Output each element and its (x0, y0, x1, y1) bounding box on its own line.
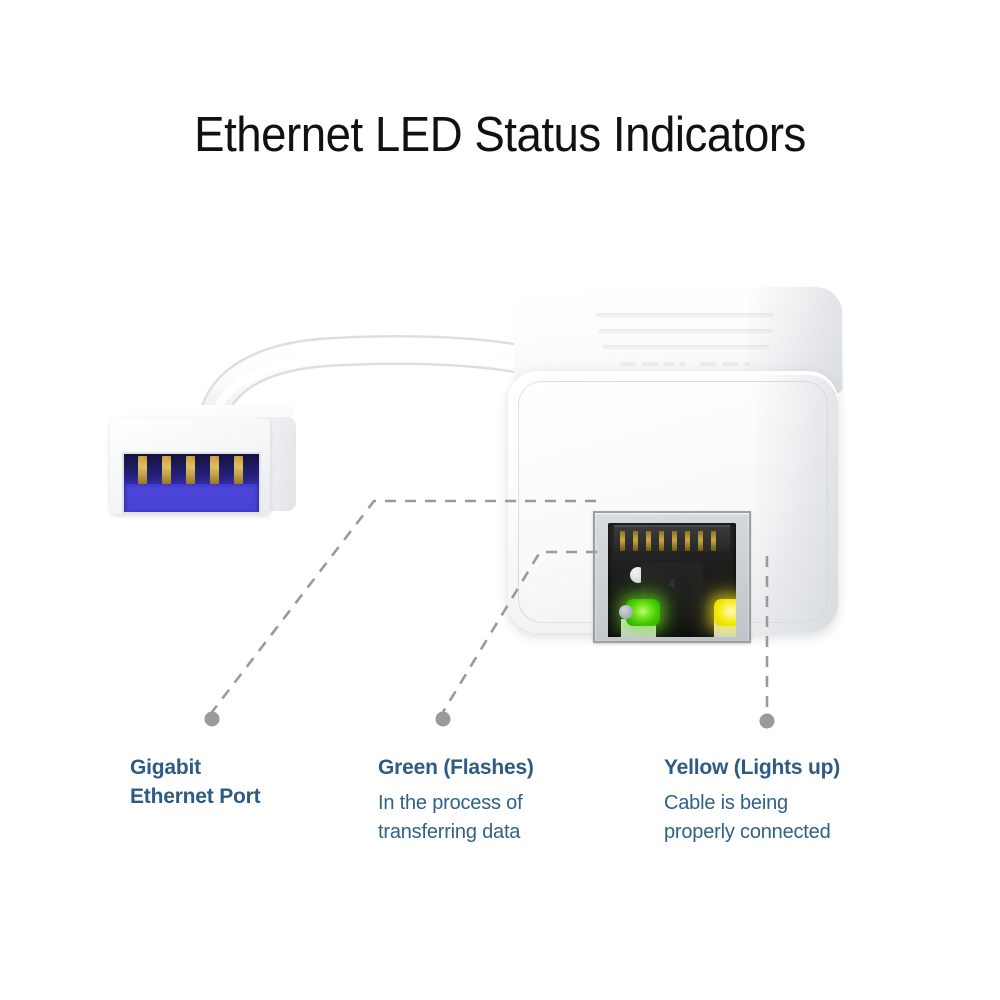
callout-leader-lines (0, 0, 1000, 1000)
callout-gigabit-ethernet-port: Gigabit Ethernet Port (130, 753, 360, 818)
illustration-canvas: Ethernet LED Status Indicators (0, 0, 1000, 1000)
leader-line-green-led (443, 552, 597, 712)
callout-heading: Yellow (Lights up) (664, 753, 944, 782)
callout-heading: Green (Flashes) (378, 753, 638, 782)
leader-dot-green-led (436, 712, 451, 727)
callout-heading: Gigabit Ethernet Port (130, 753, 360, 811)
callout-yellow-led: Yellow (Lights up) Cable is being proper… (664, 753, 944, 847)
leader-dot-yellow-led (760, 714, 775, 729)
callout-green-led: Green (Flashes) In the process of transf… (378, 753, 638, 847)
callout-description: In the process of transferring data (378, 789, 638, 847)
callout-description: Cable is being properly connected (664, 789, 944, 847)
leader-line-gigabit-port (212, 501, 596, 712)
leader-dot-gigabit-port (205, 712, 220, 727)
